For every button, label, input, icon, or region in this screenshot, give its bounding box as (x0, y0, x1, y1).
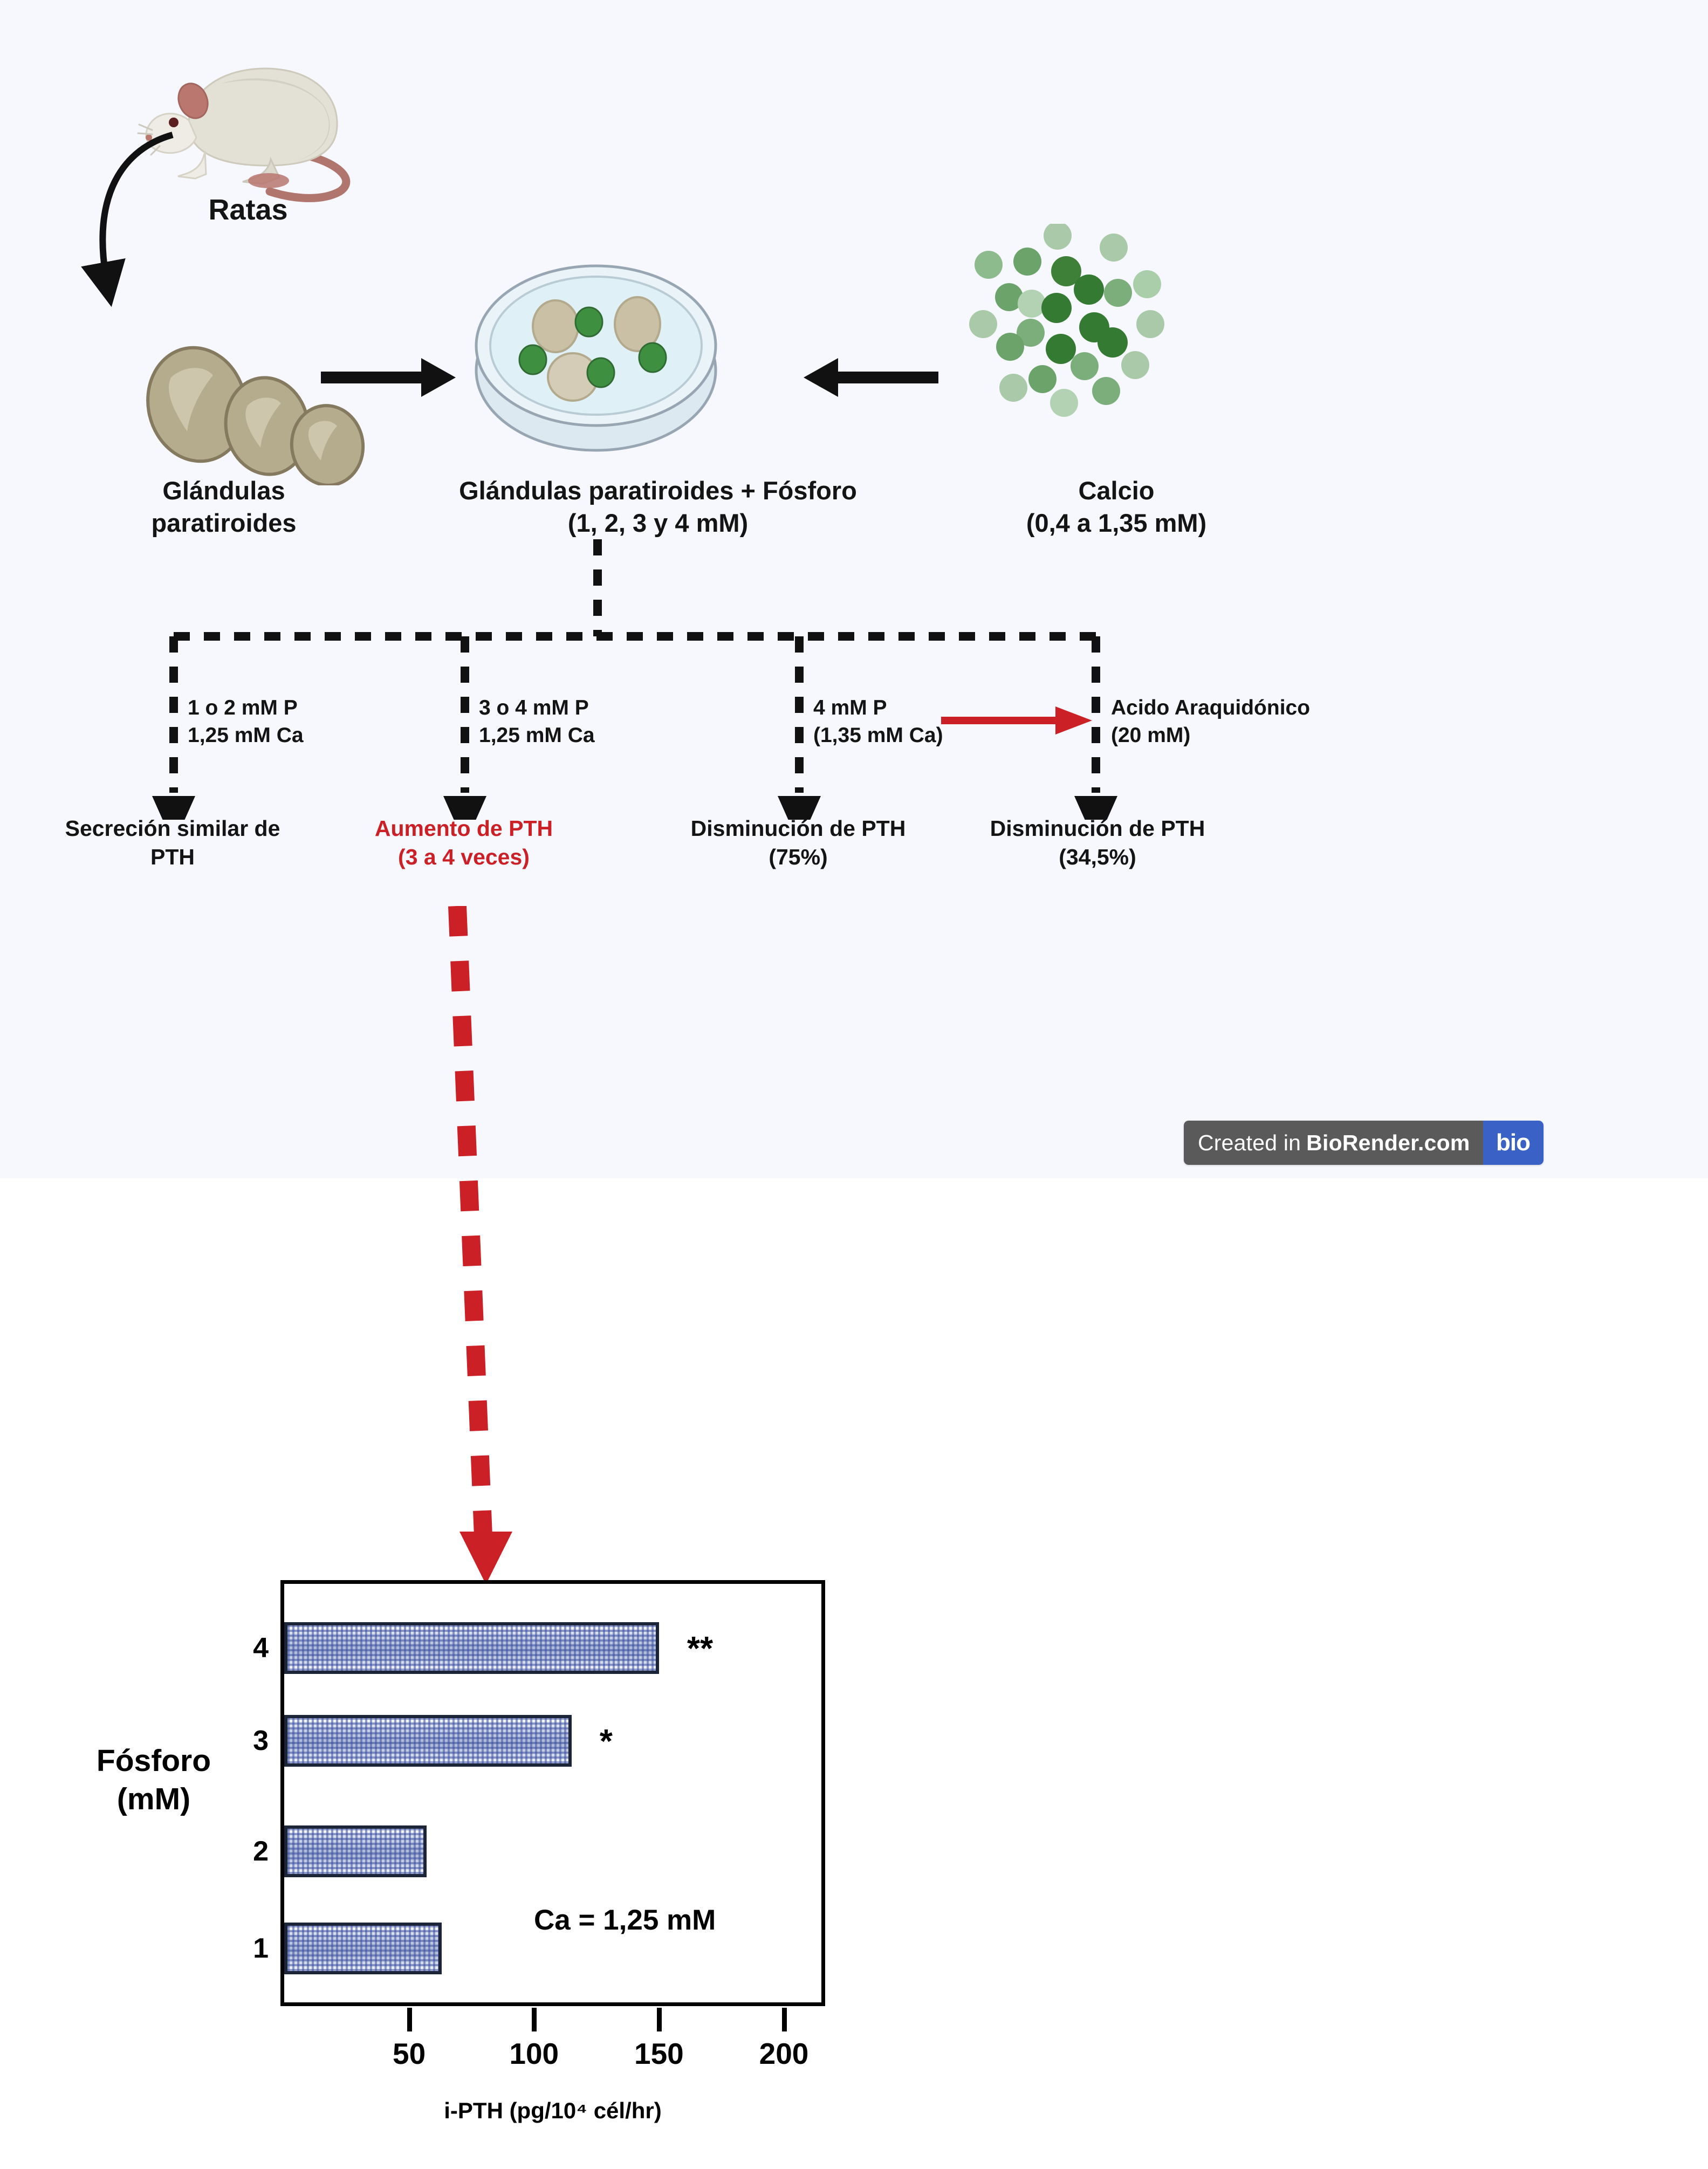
xaxis-tick-label-150: 150 (616, 2036, 702, 2071)
branch-outcome-1: Secreción similar de PTH (32, 814, 313, 872)
branch-condition-2-line2: 1,25 mM Ca (479, 722, 595, 750)
glands-label: Glándulas paratiroides (100, 475, 348, 539)
bar-category-label-2: 2 (231, 1835, 269, 1868)
branch-outcome-2: Aumento de PTH (3 a 4 veces) (329, 814, 599, 872)
bar-category-label-4: 4 (231, 1632, 269, 1664)
xaxis-tick-200 (782, 2008, 787, 2031)
calcium-particles-illustration (941, 224, 1195, 456)
chart-xaxis-title: i-PTH (pg/10⁴ cél/hr) (280, 2098, 825, 2124)
arrow-to-chart (431, 906, 550, 1585)
branch-condition-1: 1 o 2 mM P 1,25 mM Ca (188, 695, 304, 749)
arrow-arachidonic-acid (941, 701, 1103, 739)
xaxis-tick-label-200: 200 (741, 2036, 827, 2071)
xaxis-tick-50 (407, 2008, 412, 2031)
bar-category-label-3: 3 (231, 1725, 269, 1757)
bar-2 (284, 1825, 427, 1877)
branch-condition-2: 3 o 4 mM P 1,25 mM Ca (479, 695, 595, 749)
arrow-calcium-to-dish (798, 345, 938, 410)
glands-label-line1: Glándulas (162, 476, 285, 505)
branch-outcome-4-line2: (34,5%) (960, 843, 1235, 871)
branch-outcome-1-line1: Secreción similar de (32, 814, 313, 843)
bar-4 (284, 1622, 659, 1674)
branch-condition-1-line1: 1 o 2 mM P (188, 695, 304, 722)
bar-chart: Fósforo (mM) 123*4** Ca = 1,25 mM 501001… (280, 1580, 825, 2006)
petri-dish-illustration (469, 245, 723, 456)
branch-condition-3-line2: (1,35 mM Ca) (813, 722, 943, 750)
branch-outcome-3-line1: Disminución de PTH (661, 814, 936, 843)
dish-label-line2: (1, 2, 3 y 4 mM) (568, 509, 748, 537)
branch-condition-4-line1: Acido Araquidónico (1111, 695, 1310, 722)
biorender-watermark[interactable]: Created in BioRender.com bio (1184, 1121, 1544, 1165)
branch-condition-1-line2: 1,25 mM Ca (188, 722, 304, 750)
chart-note: Ca = 1,25 mM (534, 1904, 716, 1937)
dashed-branch-tree (0, 539, 1294, 820)
chart-yaxis-title-line1: Fósforo (65, 1742, 243, 1780)
calcium-label-line1: Calcio (1078, 476, 1154, 505)
branch-outcome-3-line2: (75%) (661, 843, 936, 871)
biorender-brand: BioRender.com (1306, 1130, 1470, 1156)
biorender-watermark-text: Created in BioRender.com (1184, 1121, 1483, 1165)
arrow-rat-to-glands (65, 124, 243, 377)
glands-label-line2: paratiroides (151, 509, 296, 537)
branch-outcome-4-line1: Disminución de PTH (960, 814, 1235, 843)
branch-condition-4-line2: (20 mM) (1111, 722, 1310, 750)
branch-outcome-2-line1: Aumento de PTH (329, 814, 599, 843)
dish-label-line1: Glándulas paratiroides + Fósforo (459, 476, 857, 505)
biorender-logo-icon: bio (1483, 1121, 1544, 1165)
branch-outcome-4: Disminución de PTH (34,5%) (960, 814, 1235, 872)
branch-condition-3-line1: 4 mM P (813, 695, 943, 722)
xaxis-tick-label-50: 50 (366, 2036, 452, 2071)
dish-label: Glándulas paratiroides + Fósforo (1, 2, … (448, 475, 868, 539)
bar-1 (284, 1923, 442, 1974)
bar-3 (284, 1715, 572, 1767)
branch-condition-2-line1: 3 o 4 mM P (479, 695, 595, 722)
calcium-label: Calcio (0,4 a 1,35 mM) (965, 475, 1267, 539)
arrow-glands-to-dish (321, 345, 461, 410)
chart-yaxis-title-line2: (mM) (65, 1780, 243, 1818)
branch-outcome-1-line2: PTH (32, 843, 313, 871)
significance-marker-4: ** (687, 1630, 713, 1668)
branch-outcome-2-line2: (3 a 4 veces) (329, 843, 599, 871)
branch-condition-4: Acido Araquidónico (20 mM) (1111, 695, 1310, 749)
xaxis-tick-100 (532, 2008, 537, 2031)
branch-outcome-3: Disminución de PTH (75%) (661, 814, 936, 872)
bar-category-label-1: 1 (231, 1932, 269, 1965)
xaxis-tick-150 (657, 2008, 662, 2031)
branch-condition-3: 4 mM P (1,35 mM Ca) (813, 695, 943, 749)
calcium-label-line2: (0,4 a 1,35 mM) (1026, 509, 1206, 537)
biorender-prefix: Created in (1198, 1130, 1301, 1156)
significance-marker-3: * (600, 1722, 613, 1761)
xaxis-tick-label-100: 100 (491, 2036, 577, 2071)
chart-yaxis-title: Fósforo (mM) (65, 1742, 243, 1819)
